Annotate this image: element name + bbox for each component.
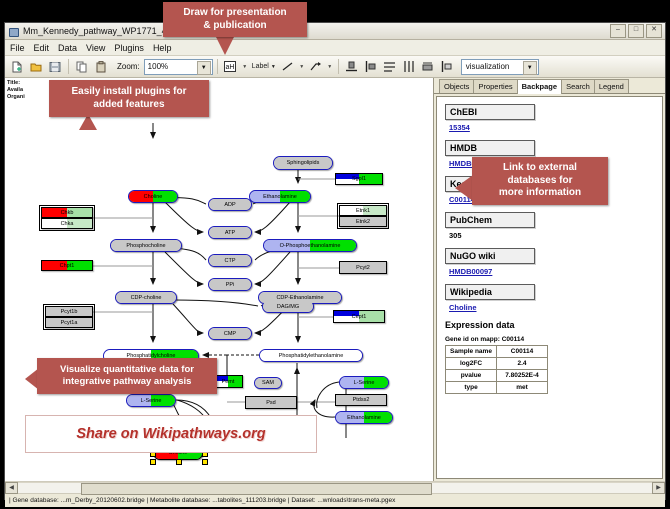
tab-backpage[interactable]: Backpage: [517, 79, 562, 94]
distribute-vertical-icon[interactable]: [381, 58, 399, 76]
toolbar-separator-1: [68, 59, 69, 74]
metabolite-node[interactable]: CTP: [208, 254, 252, 267]
metabolite-node[interactable]: Sphingolipids: [273, 156, 333, 170]
status-bar: | Gene database: ...m_Derby_20120602.bri…: [5, 493, 665, 507]
paste-icon[interactable]: [92, 58, 110, 76]
scroll-left-icon[interactable]: ◀: [5, 482, 18, 494]
window-controls: – □ ✕: [610, 24, 662, 38]
table-cell: C00114: [497, 346, 548, 358]
side-pane: Objects Properties Backpage Search Legen…: [434, 78, 665, 481]
metabolite-node[interactable]: O-Phosphoethanolamine: [263, 239, 357, 252]
metabolite-node[interactable]: Ethanolamine: [335, 411, 393, 424]
arrow-tool-icon[interactable]: [307, 58, 325, 76]
tab-search[interactable]: Search: [561, 79, 595, 93]
db-header-wikipedia: Wikipedia: [445, 284, 535, 300]
svg-text:aH: aH: [226, 64, 235, 71]
table-row: log2FC2.4: [446, 358, 548, 370]
side-pane-tabs: Objects Properties Backpage Search Legen…: [434, 78, 665, 94]
app-icon: [8, 26, 19, 37]
table-cell: pvalue: [446, 370, 497, 382]
copy-icon[interactable]: [73, 58, 91, 76]
zoom-label: Zoom:: [117, 62, 140, 71]
text-label-icon[interactable]: aH: [222, 58, 240, 76]
align-left-icon[interactable]: [362, 58, 380, 76]
metabolite-node[interactable]: ATP: [208, 226, 252, 239]
table-row: typemet: [446, 382, 548, 394]
gene-node[interactable]: Etnk1: [339, 205, 387, 216]
main-content: Title: Availa Organi: [5, 78, 665, 481]
table-cell: Sample name: [446, 346, 497, 358]
zoom-combo[interactable]: 100% ▼: [144, 59, 213, 75]
pathway-title-label: Title:: [7, 80, 20, 86]
metabolite-node[interactable]: PPi: [208, 278, 252, 291]
menu-view[interactable]: View: [85, 43, 106, 53]
table-row: pvalue7.80252E-4: [446, 370, 548, 382]
visualization-combo[interactable]: visualization ▼: [461, 59, 539, 75]
new-file-icon[interactable]: [8, 58, 26, 76]
tab-legend[interactable]: Legend: [594, 79, 629, 93]
expression-data-heading: Expression data: [445, 320, 662, 330]
metabolite-node[interactable]: Phosphocholine: [110, 239, 182, 252]
visualization-value: visualization: [466, 62, 510, 71]
metabolite-node[interactable]: ADP: [208, 198, 252, 211]
stack-icon[interactable]: [419, 58, 437, 76]
gene-id-label: Gene id on mapp: C00114: [445, 336, 662, 343]
distribute-horizontal-icon[interactable]: [400, 58, 418, 76]
gene-node[interactable]: Chpt1: [41, 260, 93, 271]
db-link-chebi[interactable]: 15354: [449, 123, 662, 132]
menu-help[interactable]: Help: [152, 43, 173, 53]
label-dropdown-text: Label: [252, 63, 269, 70]
label-dropdown[interactable]: Label ▼: [250, 63, 278, 70]
callout-draw-text: Draw for presentation& publication: [167, 7, 303, 32]
toolbar-separator-2: [217, 59, 218, 74]
gene-node[interactable]: Psd: [245, 396, 297, 409]
minimize-button[interactable]: –: [610, 24, 626, 38]
share-banner: Share on Wikipathways.org: [25, 415, 317, 453]
scroll-right-icon[interactable]: ▶: [652, 482, 665, 494]
metabolite-node[interactable]: Ethanolamine: [249, 190, 311, 203]
callout-links: Link to externaldatabases formore inform…: [472, 157, 608, 205]
tab-properties[interactable]: Properties: [473, 79, 517, 93]
gene-node[interactable]: Etnk2: [339, 216, 387, 227]
title-bar: Mm_Kennedy_pathway_WP1771_45176.gpml – □…: [5, 23, 665, 40]
close-button[interactable]: ✕: [646, 24, 662, 38]
scroll-track[interactable]: [18, 482, 652, 493]
status-text: | Gene database: ...m_Derby_20120602.bri…: [9, 497, 395, 504]
bring-front-icon[interactable]: [438, 58, 456, 76]
pathway-canvas[interactable]: Title: Availa Organi: [5, 78, 434, 481]
metabolite-node[interactable]: Phosphatidylethanolamine: [259, 349, 363, 362]
backpage-panel[interactable]: ChEBI 15354 HMDB HMDB00097 Kegg Compound…: [436, 96, 663, 479]
callout-links-pointer: [455, 175, 473, 201]
metabolite-node[interactable]: Choline: [128, 190, 178, 203]
chevron-down-icon[interactable]: ▼: [523, 61, 537, 75]
db-header-hmdb: HMDB: [445, 140, 535, 156]
gene-node[interactable]: Sgpl1: [335, 173, 383, 185]
menu-edit[interactable]: Edit: [33, 43, 51, 53]
arrow-dropdown-icon[interactable]: ▼: [326, 58, 334, 76]
callout-visualize-text: Visualize quantitative data forintegrati…: [41, 364, 213, 388]
gene-node[interactable]: Chkb: [41, 207, 93, 218]
table-cell: met: [497, 382, 548, 394]
gene-node[interactable]: Ptdss2: [335, 394, 387, 406]
table-cell: type: [446, 382, 497, 394]
callout-draw-pointer: [215, 35, 235, 55]
scroll-thumb[interactable]: [81, 483, 432, 495]
metabolite-node[interactable]: L-Serine: [339, 376, 389, 389]
chevron-down-icon[interactable]: ▼: [271, 64, 276, 70]
pathway-drawing[interactable]: Title: Availa Organi: [5, 78, 433, 481]
gene-node[interactable]: Pcyt1b: [45, 306, 93, 317]
gene-node[interactable]: Cept1: [333, 310, 385, 323]
callout-plugins-text: Easily install plugins foradded features: [53, 86, 205, 111]
maximize-button[interactable]: □: [628, 24, 644, 38]
toolbar: Zoom: 100% ▼ aH ▼ Label ▼ ▼ ▼: [5, 56, 665, 78]
gene-node[interactable]: Pcyt2: [339, 261, 387, 274]
line-tool-icon[interactable]: [279, 58, 297, 76]
share-banner-text: Share on Wikipathways.org: [76, 426, 265, 442]
table-cell: 2.4: [497, 358, 548, 370]
chevron-down-icon[interactable]: ▼: [197, 61, 211, 75]
menu-bar: File Edit Data View Plugins Help: [5, 40, 665, 56]
text-dropdown-icon[interactable]: ▼: [241, 58, 249, 76]
metabolite-node[interactable]: DAG/MG: [262, 300, 314, 313]
db-link-nugo[interactable]: HMDB00097: [449, 267, 662, 276]
pathway-organism-label: Organi: [7, 94, 25, 100]
callout-plugins: Easily install plugins foradded features: [49, 80, 209, 117]
table-row: Sample nameC00114: [446, 346, 548, 358]
horizontal-scrollbar[interactable]: ◀ ▶: [5, 481, 665, 493]
menu-plugins[interactable]: Plugins: [113, 43, 145, 53]
callout-draw: Draw for presentation& publication: [163, 2, 307, 37]
metabolite-node[interactable]: CDP-choline: [115, 291, 177, 304]
align-bottom-icon[interactable]: [343, 58, 361, 76]
metabolite-node[interactable]: SAM: [254, 377, 282, 389]
gene-node[interactable]: Chka: [41, 218, 93, 229]
selection-handle[interactable]: [202, 459, 208, 465]
menu-data[interactable]: Data: [57, 43, 78, 53]
db-link-wikipedia[interactable]: Choline: [449, 303, 662, 312]
gene-node[interactable]: Pemt: [213, 375, 243, 388]
tab-objects[interactable]: Objects: [439, 79, 474, 93]
save-icon[interactable]: [46, 58, 64, 76]
pathvisio-window: Mm_Kennedy_pathway_WP1771_45176.gpml – □…: [4, 22, 666, 500]
metabolite-node[interactable]: L-Serine: [126, 394, 176, 407]
pathway-avail-label: Availa: [7, 87, 23, 93]
db-value-pubchem: 305: [449, 231, 662, 240]
table-cell: 7.80252E-4: [497, 370, 548, 382]
open-folder-icon[interactable]: [27, 58, 45, 76]
callout-visualize: Visualize quantitative data forintegrati…: [37, 358, 217, 394]
callout-links-text: Link to externaldatabases formore inform…: [476, 162, 604, 200]
expression-table: Sample nameC00114log2FC2.4pvalue7.80252E…: [445, 345, 548, 394]
metabolite-node[interactable]: CMP: [208, 327, 252, 340]
table-cell: log2FC: [446, 358, 497, 370]
selection-handle[interactable]: [176, 459, 182, 465]
db-header-pubchem: PubChem: [445, 212, 535, 228]
toolbar-separator-3: [338, 59, 339, 74]
line-dropdown-icon[interactable]: ▼: [298, 58, 306, 76]
db-header-chebi: ChEBI: [445, 104, 535, 120]
zoom-value: 100%: [148, 62, 168, 71]
selection-handle[interactable]: [150, 459, 156, 465]
menu-file[interactable]: File: [9, 43, 26, 53]
db-header-nugo: NuGO wiki: [445, 248, 535, 264]
gene-node[interactable]: Pcyt1a: [45, 317, 93, 328]
